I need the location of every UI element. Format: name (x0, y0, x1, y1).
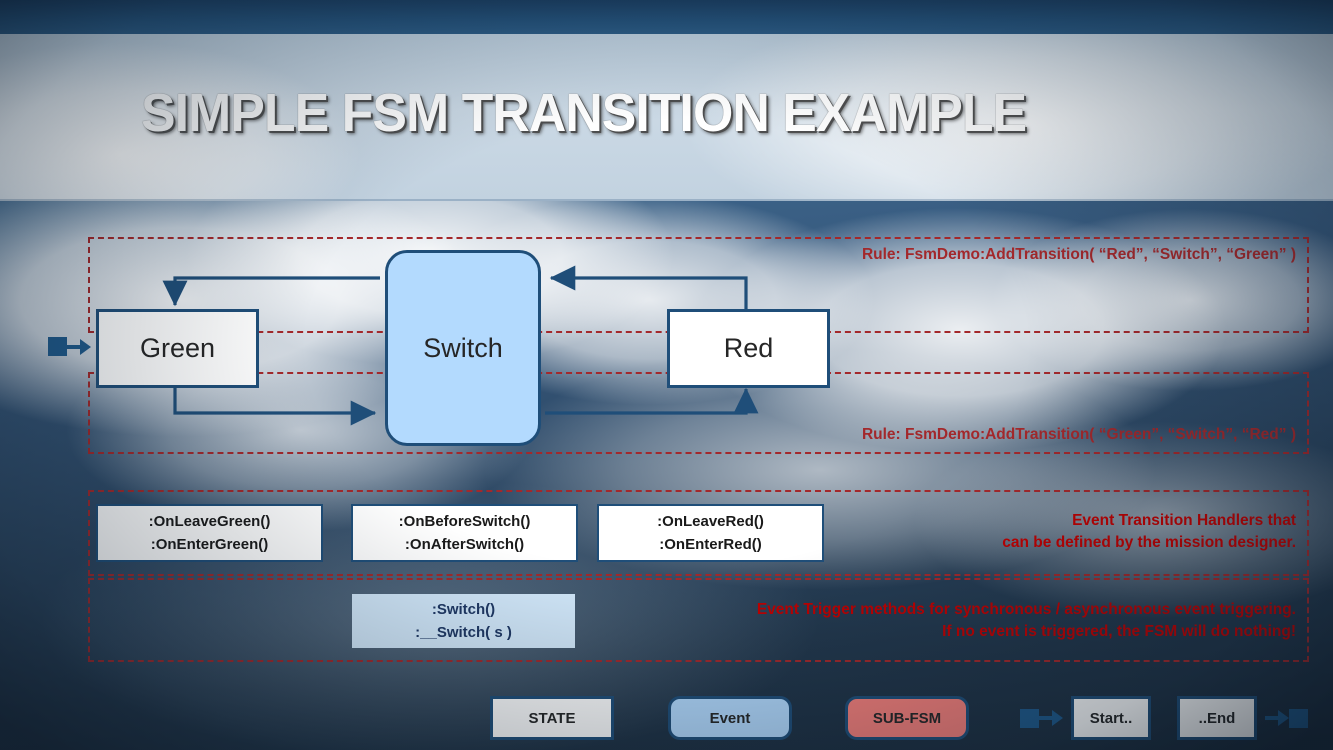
triggers-note: Event Trigger methods for synchronous / … (600, 599, 1296, 644)
start-arrowhead-icon (80, 339, 91, 355)
triggers-note-line2: If no event is triggered, the FSM will d… (600, 621, 1296, 643)
legend-start-label: Start.. (1090, 710, 1133, 727)
legend-end-arrowhead-icon (1278, 710, 1289, 726)
rule-green-to-red: Rule: FsmDemo:AddTransition( “Green”, “S… (700, 426, 1296, 444)
legend-event-label: Event (710, 710, 751, 727)
handlers-note: Event Transition Handlers that can be de… (840, 510, 1296, 555)
handlers-note-line1: Event Transition Handlers that (840, 510, 1296, 532)
legend-event-box: Event (668, 696, 792, 740)
switch-handler-before: :OnBeforeSwitch() (399, 510, 531, 533)
green-handler-leave: :OnLeaveGreen() (149, 510, 271, 533)
legend-state-box: STATE (490, 696, 614, 740)
event-switch-label: Switch (423, 333, 503, 364)
state-red[interactable]: Red (667, 309, 830, 388)
legend-end-square-icon (1289, 709, 1308, 728)
transition-arrows (0, 200, 1333, 750)
switch-handlers-box[interactable]: :OnBeforeSwitch() :OnAfterSwitch() (351, 504, 578, 562)
legend-item-event[interactable]: Event (668, 698, 792, 738)
green-handler-enter: :OnEnterGreen() (151, 533, 269, 556)
legend-subfsm-label: SUB-FSM (873, 710, 941, 727)
legend-subfsm-box: SUB-FSM (845, 696, 969, 740)
page-title: SIMPLE FSM TRANSITION EXAMPLE (141, 82, 1026, 144)
trigger-switch-sync: :Switch() (432, 598, 495, 621)
state-green-label: Green (140, 333, 215, 364)
legend-end-label: ..End (1199, 710, 1236, 727)
legend-start-box: Start.. (1071, 696, 1151, 740)
rule-red-to-green: Rule: FsmDemo:AddTransition( “Red”, “Swi… (700, 246, 1296, 264)
legend-item-state[interactable]: STATE (490, 698, 614, 738)
red-handlers-box[interactable]: :OnLeaveRed() :OnEnterRed() (597, 504, 824, 562)
legend-start-stem-icon (1039, 716, 1052, 720)
legend-item-subfsm[interactable]: SUB-FSM (845, 698, 969, 738)
top-dark-band (0, 0, 1333, 34)
state-red-label: Red (724, 333, 774, 364)
green-handlers-box[interactable]: :OnLeaveGreen() :OnEnterGreen() (96, 504, 323, 562)
legend-end-box: ..End (1177, 696, 1257, 740)
legend-state-label: STATE (529, 710, 576, 727)
red-handler-enter: :OnEnterRed() (659, 533, 762, 556)
handlers-note-line2: can be defined by the mission designer. (840, 532, 1296, 554)
trigger-switch-async: :__Switch( s ) (415, 621, 512, 644)
slide-canvas: SIMPLE FSM TRANSITION EXAMPLE Green Swit… (0, 0, 1333, 750)
triggers-note-line1: Event Trigger methods for synchronous / … (600, 599, 1296, 621)
legend-item-end[interactable]: ..End (1177, 698, 1308, 738)
switch-handler-after: :OnAfterSwitch() (405, 533, 524, 556)
start-square-icon (48, 337, 67, 356)
start-marker (48, 337, 91, 356)
state-green[interactable]: Green (96, 309, 259, 388)
red-handler-leave: :OnLeaveRed() (657, 510, 764, 533)
legend-end-stem-icon (1265, 716, 1278, 720)
switch-triggers-box[interactable]: :Switch() :__Switch( s ) (352, 594, 575, 648)
legend-start-arrowhead-icon (1052, 710, 1063, 726)
legend: STATE Event SUB-FSM Start.. ..End (0, 698, 1333, 746)
event-switch[interactable]: Switch (385, 250, 541, 446)
legend-item-start[interactable]: Start.. (1020, 698, 1151, 738)
start-stem-icon (67, 345, 80, 349)
legend-start-square-icon (1020, 709, 1039, 728)
